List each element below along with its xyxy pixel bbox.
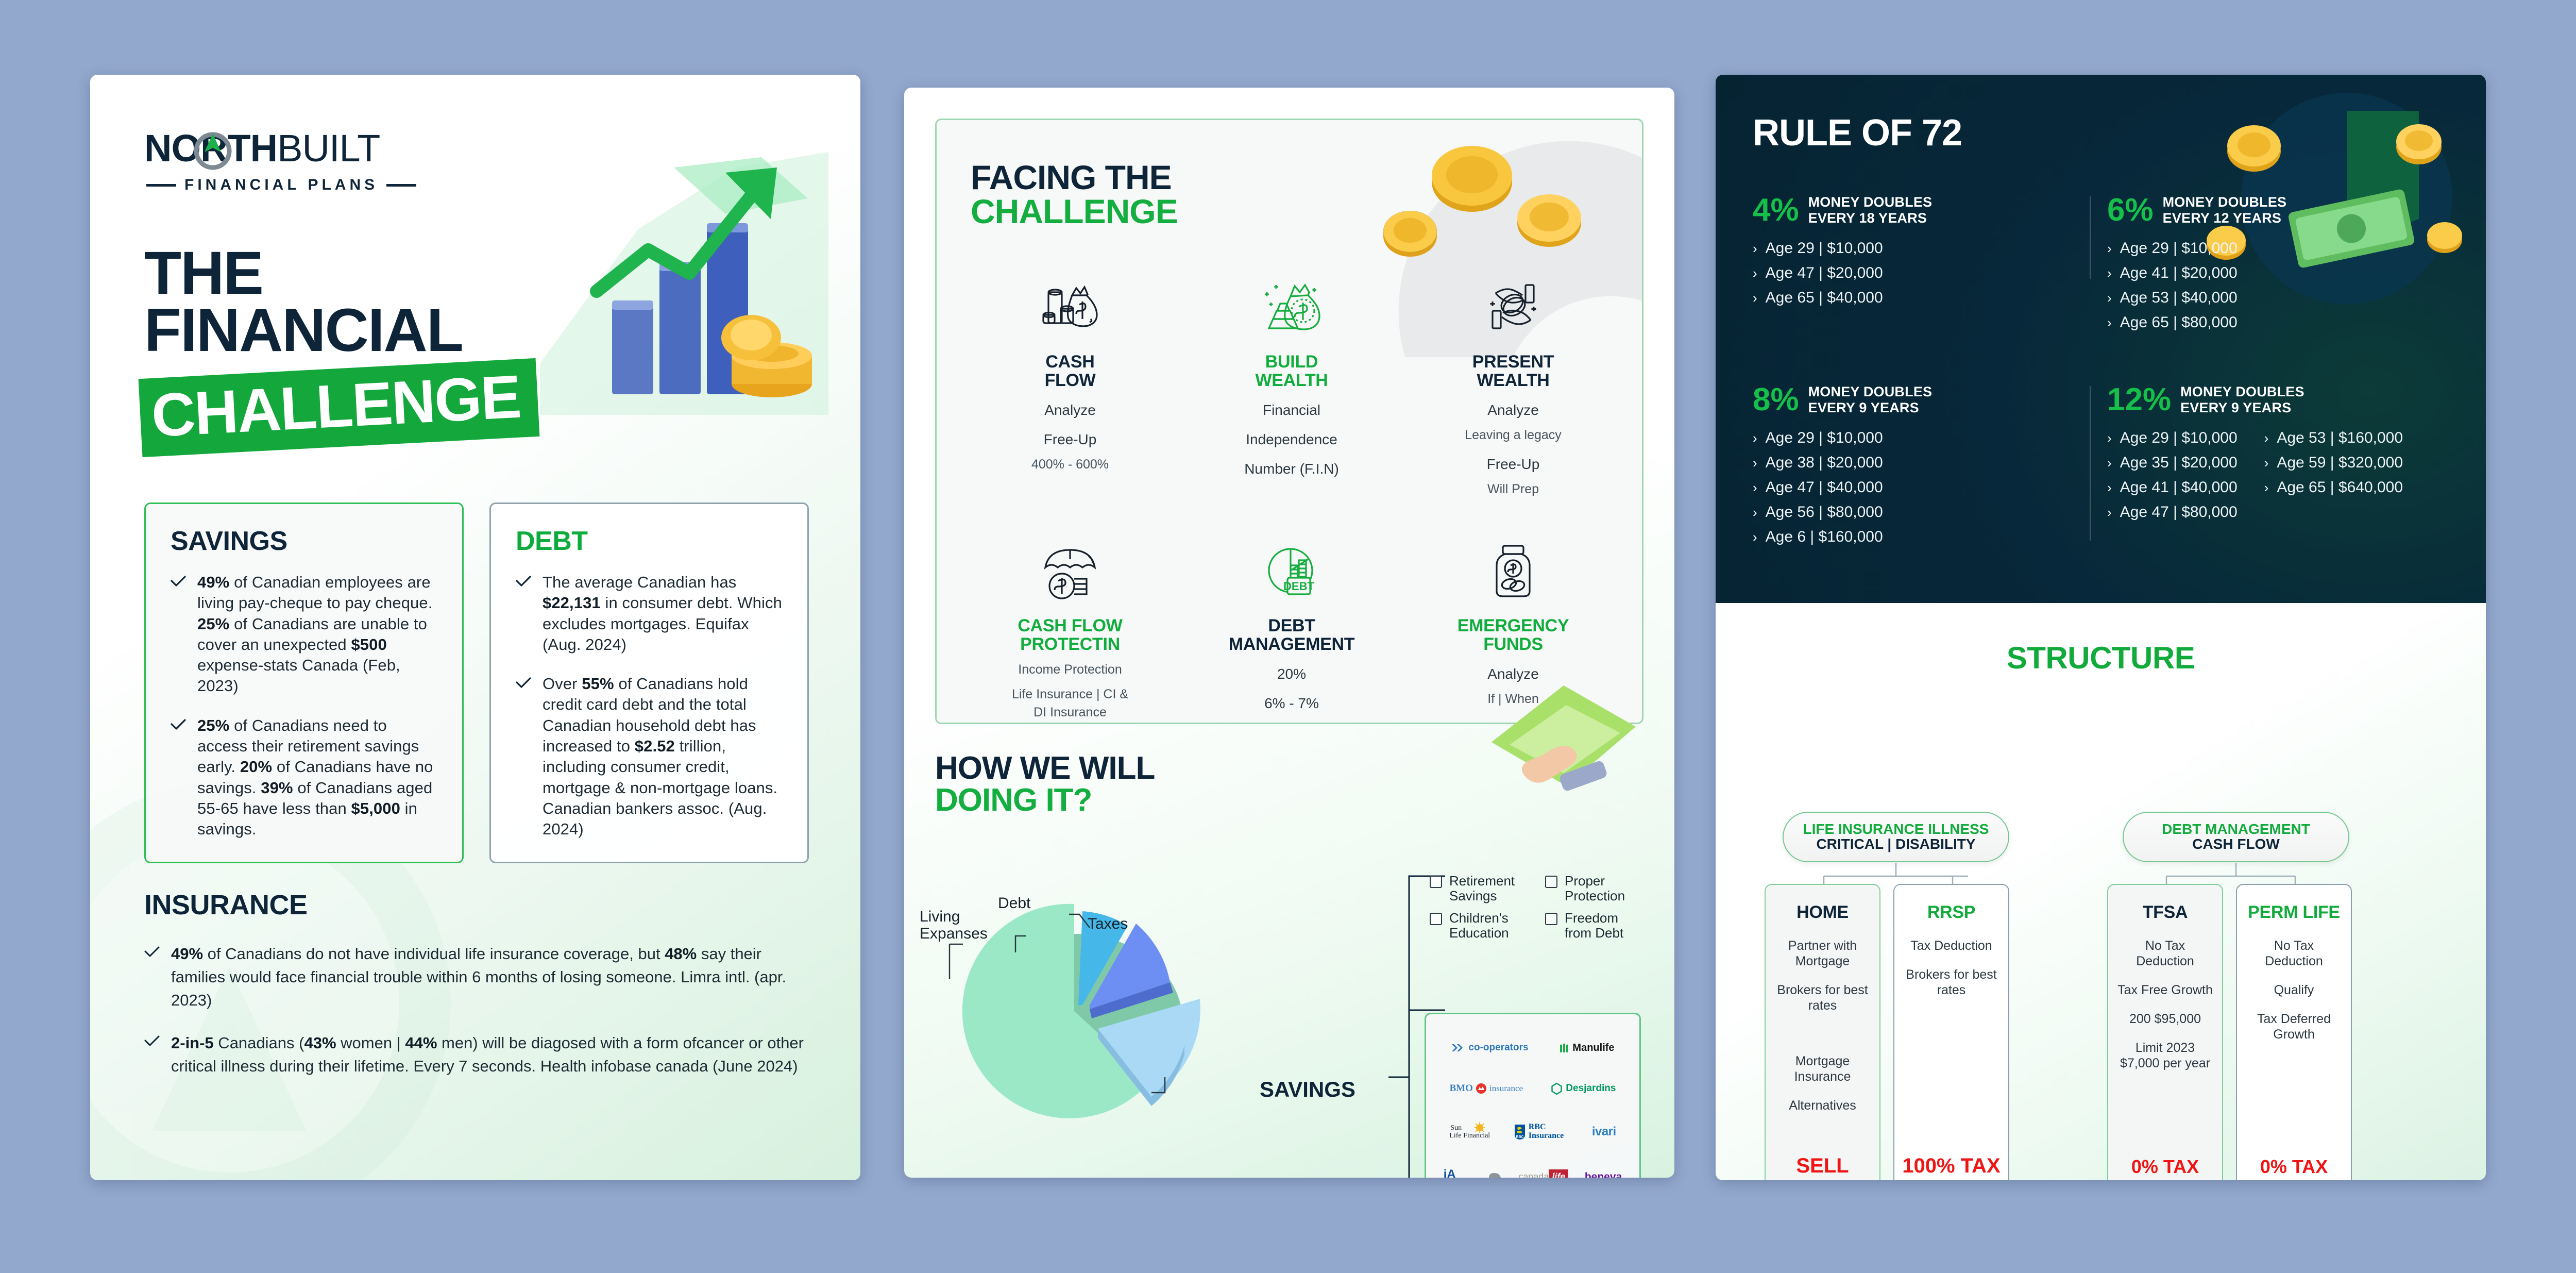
rate-desc-line1: MONEY DOUBLES [2180, 384, 2304, 400]
list-item: 49% of Canadian employees are living pay… [171, 572, 438, 697]
list-item: ›Age 65 | $40,000 [1753, 289, 1883, 307]
checkbox-label: Proper Protection [1565, 874, 1631, 903]
list-item: ›Age 41 | $40,000 [2107, 479, 2238, 496]
list-item: ›Age 29 | $10,000 [2107, 240, 2238, 257]
tile-title: CASH FLOW [973, 353, 1167, 390]
tile-sub1: Analyze [1416, 401, 1611, 419]
challenge-icon-grid: CASH FLOW Analyze Free-Up 400% - 600% [959, 270, 1624, 724]
tile-title: DEBT MANAGEMENT [1194, 617, 1389, 654]
structure-card-rrsp[interactable]: RRSP Tax Deduction Brokers for best rate… [1893, 884, 2009, 1180]
tile-sub1: 20% [1194, 665, 1389, 683]
pill-line-1: LIFE INSURANCE ILLNESS [1803, 822, 1989, 836]
chevron-right-icon: › [2107, 290, 2112, 306]
chevron-right-icon: › [2107, 265, 2112, 281]
headline-line-2: FINANCIAL [144, 302, 538, 359]
list-item: 25% of Canadians need to access their re… [171, 715, 438, 840]
list-item: Over 55% of Canadians hold credit card d… [516, 674, 784, 840]
tile-debt-management[interactable]: DEBT DEBT MANAGEMENT 20% 6% - 7% [1181, 533, 1402, 724]
checkbox-item-proper-protection[interactable]: Proper Protection [1545, 874, 1631, 903]
insurer-logos-panel: co-operators Manulife BMO [1425, 1013, 1641, 1178]
insurance-bullet-2: 2-in-5 Canadians (43% women | 44% men) w… [171, 1032, 814, 1078]
rule-of-72-box: RULE OF 72 4% MONEY DOUBLES EVERY 18 YEA… [1716, 75, 2486, 603]
logo-beneva: beneva [1585, 1171, 1622, 1178]
tile-sub2: 6% - 7% [1194, 694, 1389, 712]
age-value: Age 38 | $20,000 [1766, 454, 1883, 472]
card-line: Tax Deferred Growth [2244, 1011, 2344, 1042]
list-item: 49% of Canadians do not have individual … [144, 943, 814, 1012]
logo-canada-life: canada life [1518, 1169, 1568, 1178]
chevron-right-icon: › [1753, 290, 1757, 306]
list-item: ›Age 53 | $160,000 [2264, 429, 2403, 447]
checkbox-icon[interactable] [1430, 876, 1442, 888]
facing-challenge-title: FACING THE CHALLENGE [971, 160, 1178, 228]
chevron-right-icon: › [1753, 455, 1757, 471]
headline-band-challenge: CHALLENGE [139, 358, 540, 457]
brand-logo: NORTH BUILT FINANCIAL PLANS [144, 126, 474, 194]
checkbox-item-retirement-savings[interactable]: Retirement Savings [1430, 874, 1515, 903]
list-item: ›Age 65 | $640,000 [2264, 479, 2403, 496]
structure-section: STRUCTURE LIFE INSURANCE ILLNESS CRITICA… [1716, 603, 2486, 1180]
pill-line-2: CASH FLOW [2192, 836, 2280, 852]
logo-row-1: co-operators Manulife [1437, 1042, 1628, 1054]
tile-sub2: Independence [1194, 430, 1389, 448]
tile-sub4: Will Prep [1416, 481, 1611, 497]
savings-card: SAVINGS 49% of Canadian employees are li… [144, 502, 464, 863]
goal-checkbox-list: Retirement Savings Children's Education … [1430, 874, 1631, 941]
check-icon [171, 718, 186, 840]
card-title: TFSA [2115, 902, 2215, 923]
age-value: Age 29 | $10,000 [2120, 429, 2238, 447]
budget-pie-chart: Debt Living Expanses Taxes [920, 850, 1301, 1139]
pill-debt-management[interactable]: DEBT MANAGEMENT CASH FLOW [2123, 812, 2349, 862]
svg-text:RBC: RBC [1516, 1135, 1523, 1139]
card-line: Mortgage Insurance [1773, 1053, 1872, 1084]
rule-of-72-title: RULE OF 72 [1753, 112, 1962, 154]
card-title: HOME [1773, 902, 1872, 923]
rbc-shield-icon: RBC [1514, 1124, 1526, 1140]
card-line: Tax Deduction [1902, 938, 2001, 953]
age-value: Age 56 | $80,000 [1766, 504, 1883, 521]
rate-percent: 6% [2107, 196, 2154, 225]
structure-card-home[interactable]: HOME Partner with Mortgage Brokers for b… [1765, 884, 1880, 1180]
how-title-line1: HOW WE WILL [935, 752, 1155, 784]
money-bag-coins-icon [973, 270, 1167, 347]
tile-sub3: Number (F.I.N) [1194, 460, 1389, 478]
check-icon [171, 575, 186, 697]
card-line: No Tax Deduction [2115, 938, 2215, 969]
logo-desjardins: Desjardins [1551, 1083, 1616, 1095]
how-we-will-do-it-title: HOW WE WILL DOING IT? [935, 752, 1155, 816]
hands-coin-icon [1416, 270, 1611, 347]
age-value: Age 47 | $40,000 [1766, 479, 1883, 496]
structure-card-perm-life[interactable]: PERM LIFE No Tax Deduction Qualify Tax D… [2236, 884, 2352, 1180]
rate-percent: 8% [1753, 386, 1799, 414]
list-item: ›Age 59 | $320,000 [2264, 454, 2403, 472]
logo-text: beneva [1585, 1171, 1622, 1178]
facing-title-line1: FACING THE [971, 160, 1178, 194]
tile-title: PRESENT WEALTH [1416, 353, 1611, 390]
rate-desc-line2: EVERY 9 YEARS [1808, 400, 1933, 416]
co-operators-mark-icon [1451, 1042, 1464, 1053]
logo-row-2: BMO insurance Desjardins [1437, 1083, 1628, 1095]
pill-life-insurance-illness[interactable]: LIFE INSURANCE ILLNESS CRITICAL | DISABI… [1783, 812, 2009, 862]
umbrella-coin-icon [973, 533, 1167, 611]
card-line: Alternatives [1773, 1098, 1872, 1113]
card-tax-badge: 0% TAX [2244, 1157, 2344, 1177]
card-tax-badge: 100% TAX [1902, 1155, 2001, 1177]
age-value: Age 47 | $80,000 [2120, 504, 2238, 521]
quadrant-4-percent: 4% MONEY DOUBLES EVERY 18 YEARS ›Age 29 … [1753, 194, 2082, 314]
age-value: Age 65 | $640,000 [2277, 479, 2403, 496]
debt-title: DEBT [516, 526, 807, 557]
headline-line-1: THE [144, 245, 538, 302]
list-item: ›Age 41 | $20,000 [2107, 264, 2238, 282]
chevron-right-icon: › [2107, 505, 2112, 521]
desjardins-hex-icon [1551, 1083, 1562, 1095]
pie-label-living-expanses: Living Expanses [920, 908, 987, 942]
tile-sub2: Leaving a legacy [1416, 427, 1611, 443]
tile-sub3: Free-Up [1416, 455, 1611, 473]
debt-card: DEBT The average Canadian has $22,131 in… [489, 502, 809, 863]
check-icon [516, 575, 531, 655]
chevron-right-icon: › [1753, 480, 1757, 496]
chevron-right-icon: › [2107, 315, 2112, 331]
chevron-right-icon: › [2264, 480, 2269, 496]
logo-built-text: BUILT [277, 126, 380, 170]
chevron-right-icon: › [2264, 455, 2269, 471]
age-value: Age 53 | $40,000 [2120, 289, 2238, 307]
logo-ia-groupe-financier: iA Groupe financier [1444, 1169, 1502, 1178]
checkbox-item-childrens-education[interactable]: Children's Education [1430, 911, 1515, 941]
tile-sub1: Analyze [973, 401, 1167, 419]
jar-coins-icon [1416, 533, 1611, 611]
age-value: Age 29 | $10,000 [2120, 240, 2238, 257]
tile-sub1: Financial [1194, 401, 1389, 419]
list-item: ›Age 47 | $80,000 [2107, 504, 2238, 521]
tile-sub2: Life Insurance | CI & [973, 686, 1167, 702]
list-item: ›Age 53 | $40,000 [2107, 289, 2238, 307]
pie-label-taxes: Taxes [1088, 915, 1128, 932]
chevron-right-icon: › [1753, 430, 1757, 446]
checkbox-icon[interactable] [1545, 913, 1557, 925]
checkbox-label: Freedom from Debt [1565, 911, 1631, 941]
logo-divider-left [146, 184, 176, 187]
how-title-line2: DOING IT? [935, 784, 1155, 816]
chevron-right-icon: › [2107, 430, 2112, 446]
card-tax-badge: 0% TAX [2115, 1157, 2215, 1177]
logo-divider-right [386, 184, 416, 187]
pie-label-debt: Debt [998, 895, 1030, 912]
panel-facing-the-challenge: FACING THE CHALLENGE [904, 88, 1674, 1178]
chevron-right-icon: › [2107, 241, 2112, 257]
chevron-right-icon: › [2264, 430, 2269, 446]
logo-manulife: Manulife [1560, 1042, 1614, 1054]
age-value: Age 53 | $160,000 [2277, 429, 2403, 447]
pill-line-1: DEBT MANAGEMENT [2162, 822, 2310, 836]
checkbox-label: Retirement Savings [1449, 874, 1515, 903]
chevron-right-icon: › [1753, 529, 1757, 545]
card-line: 200 $95,000 [2115, 1011, 2215, 1027]
list-item: ›Age 6 | $160,000 [1753, 528, 1883, 546]
list-item: ›Age 47 | $40,000 [1753, 479, 1883, 496]
logo-text: ivari [1592, 1125, 1616, 1138]
tile-cash-flow[interactable]: CASH FLOW Analyze Free-Up 400% - 600% [959, 270, 1181, 497]
hero-growth-chart-illustration [519, 137, 849, 425]
list-item: 2-in-5 Canadians (43% women | 44% men) w… [144, 1032, 814, 1078]
panel-the-financial-challenge: NORTH BUILT FINANCIAL PLANS [90, 75, 860, 1180]
pill-line-2: CRITICAL | DISABILITY [1816, 836, 1975, 852]
rate-desc-line2: EVERY 9 YEARS [2180, 400, 2304, 416]
logo-text: co-operators [1468, 1042, 1528, 1053]
list-item: ›Age 35 | $20,000 [2107, 454, 2238, 472]
logo-bmo-insurance: BMO insurance [1450, 1083, 1523, 1094]
debt-bullet-1: The average Canadian has $22,131 in cons… [543, 572, 784, 655]
age-value: Age 65 | $40,000 [1766, 289, 1883, 307]
chevron-right-icon: › [1753, 241, 1757, 257]
age-value: Age 59 | $320,000 [2277, 454, 2403, 472]
facing-challenge-box: FACING THE CHALLENGE [935, 119, 1643, 724]
rate-desc-line1: MONEY DOUBLES [1808, 384, 1933, 400]
card-line: No Tax Deduction [2244, 938, 2344, 969]
insurance-bullet-1: 49% of Canadians do not have individual … [171, 943, 814, 1012]
list-item: ›Age 65 | $80,000 [2107, 314, 2238, 331]
card-line-spacer [1773, 1027, 1872, 1040]
rate-desc-line2: EVERY 18 YEARS [1808, 210, 1933, 226]
tile-sub3: DI Insurance [973, 705, 1167, 721]
tile-sub3: 400% - 600% [973, 457, 1167, 473]
list-item: ›Age 29 | $10,000 [1753, 240, 1883, 257]
rate-desc-line1: MONEY DOUBLES [1808, 194, 1933, 210]
logo-text: Desjardins [1566, 1083, 1616, 1094]
quadrant-divider-bottom [2090, 386, 2091, 541]
checkbox-icon[interactable] [1545, 876, 1557, 888]
list-item: ›Age 38 | $20,000 [1753, 454, 1883, 472]
checkbox-label: Children's Education [1449, 911, 1515, 941]
icon-grid-row-1: CASH FLOW Analyze Free-Up 400% - 600% [959, 270, 1624, 497]
age-value: Age 47 | $20,000 [1766, 264, 1883, 282]
tile-sub2: Free-Up [973, 430, 1167, 448]
insurance-title: INSURANCE [144, 889, 814, 921]
card-line: Tax Free Growth [2115, 982, 2215, 998]
age-value: Age 35 | $20,000 [2120, 454, 2238, 472]
quadrant-8-percent: 8% MONEY DOUBLES EVERY 9 YEARS ›Age 29 |… [1753, 384, 2082, 553]
tile-title: EMERGENCY FUNDS [1416, 617, 1611, 654]
tile-title: CASH FLOW PROTECTIN [973, 617, 1167, 654]
sun-life-sun-icon [1474, 1122, 1485, 1133]
hand-holding-cash-illustration [1481, 665, 1656, 794]
age-value: Age 41 | $20,000 [2120, 264, 2238, 282]
logo-subtitle: FINANCIAL PLANS [184, 176, 378, 194]
check-icon [144, 946, 160, 1012]
check-icon [516, 677, 531, 840]
manulife-mark-icon [1560, 1043, 1569, 1053]
quadrant-12-percent: 12% MONEY DOUBLES EVERY 9 YEARS ›Age 29 … [2107, 384, 2468, 528]
age-value: Age 6 | $160,000 [1766, 528, 1883, 546]
chevron-right-icon: › [1753, 265, 1757, 281]
savings-bullet-1: 49% of Canadian employees are living pay… [197, 572, 438, 697]
rate-percent: 4% [1753, 196, 1799, 225]
age-value: Age 29 | $10,000 [1766, 429, 1883, 447]
pie-chart-svg [920, 850, 1301, 1139]
card-line: Brokers for best rates [1902, 967, 2001, 998]
savings-title: SAVINGS [171, 526, 462, 557]
card-tax-badge: SELL [1773, 1155, 1872, 1177]
logo-arrow-drop-icon [191, 129, 235, 171]
chevron-right-icon: › [2107, 480, 2112, 496]
checkbox-item-freedom-from-debt[interactable]: Freedom from Debt [1545, 911, 1631, 941]
infographic-stage: NORTH BUILT FINANCIAL PLANS [0, 0, 2576, 1273]
list-item: The average Canadian has $22,131 in cons… [516, 572, 784, 655]
savings-bullet-2: 25% of Canadians need to access their re… [197, 715, 438, 840]
tile-present-wealth[interactable]: PRESENT WEALTH Analyze Leaving a legacy … [1402, 270, 1624, 497]
age-value: Age 41 | $40,000 [2120, 479, 2238, 496]
rate-desc-line2: EVERY 12 YEARS [2163, 210, 2287, 226]
age-value: Age 65 | $80,000 [2120, 314, 2238, 331]
logo-row-3: SunLife Financial RB [1437, 1123, 1628, 1141]
tile-cash-flow-protection[interactable]: CASH FLOW PROTECTIN Income Protection Li… [959, 533, 1181, 724]
pie-label-savings: SAVINGS [1260, 1077, 1355, 1102]
checkbox-icon[interactable] [1430, 913, 1442, 925]
facing-title-line2: CHALLENGE [971, 194, 1178, 228]
chevron-right-icon: › [2107, 455, 2112, 471]
logo-co-operators: co-operators [1451, 1042, 1528, 1053]
card-line: Brokers for best rates [1773, 982, 1872, 1013]
list-item: ›Age 56 | $80,000 [1753, 504, 1883, 521]
tile-title: BUILD WEALTH [1194, 353, 1389, 390]
panel-rule-of-72-and-structure: RULE OF 72 4% MONEY DOUBLES EVERY 18 YEA… [1716, 75, 2486, 1180]
insurance-section: INSURANCE 49% of Canadians do not have i… [144, 889, 814, 1098]
structure-card-tfsa[interactable]: TFSA No Tax Deduction Tax Free Growth 20… [2107, 884, 2223, 1180]
quadrant-divider-top [2090, 196, 2091, 279]
logo-rbc-insurance: RBC RBCInsurance [1514, 1123, 1564, 1141]
chevron-right-icon: › [1753, 505, 1757, 521]
money-bag-gold-bars-icon [1194, 270, 1389, 347]
structure-title: STRUCTURE [1716, 603, 2486, 676]
elephant-icon [1487, 1171, 1502, 1178]
list-item: ›Age 29 | $10,000 [2107, 429, 2238, 447]
rate-percent: 12% [2107, 386, 2171, 414]
logo-text: Manulife [1572, 1042, 1614, 1054]
quadrant-6-percent: 6% MONEY DOUBLES EVERY 12 YEARS ›Age 29 … [2107, 194, 2437, 339]
age-value: Age 29 | $10,000 [1766, 240, 1883, 257]
svg-text:DEBT: DEBT [1283, 580, 1314, 593]
list-item: ›Age 29 | $10,000 [1753, 429, 1883, 447]
card-line: Limit 2023 $7,000 per year [2115, 1040, 2215, 1071]
card-title: PERM LIFE [2244, 902, 2344, 923]
tile-build-wealth[interactable]: BUILD WEALTH Financial Independence Numb… [1181, 270, 1402, 497]
page-title: THE FINANCIAL CHALLENGE [144, 245, 538, 447]
list-item: ›Age 47 | $20,000 [1753, 264, 1883, 282]
tile-sub1: Income Protection [973, 662, 1167, 678]
logo-row-4: iA Groupe financier canada life benev [1437, 1169, 1628, 1178]
logo-ivari: ivari [1592, 1125, 1616, 1139]
debt-piechart-icon: DEBT [1194, 533, 1389, 611]
card-title: RRSP [1902, 902, 2001, 923]
rate-desc-line1: MONEY DOUBLES [2163, 194, 2287, 210]
debt-bullet-2: Over 55% of Canadians hold credit card d… [543, 674, 784, 840]
card-line: Partner with Mortgage [1773, 938, 1872, 969]
card-line: Qualify [2244, 982, 2344, 998]
bmo-roundel-icon [1476, 1083, 1487, 1094]
logo-sun-life-financial: SunLife Financial [1449, 1124, 1485, 1140]
check-icon [144, 1035, 160, 1078]
